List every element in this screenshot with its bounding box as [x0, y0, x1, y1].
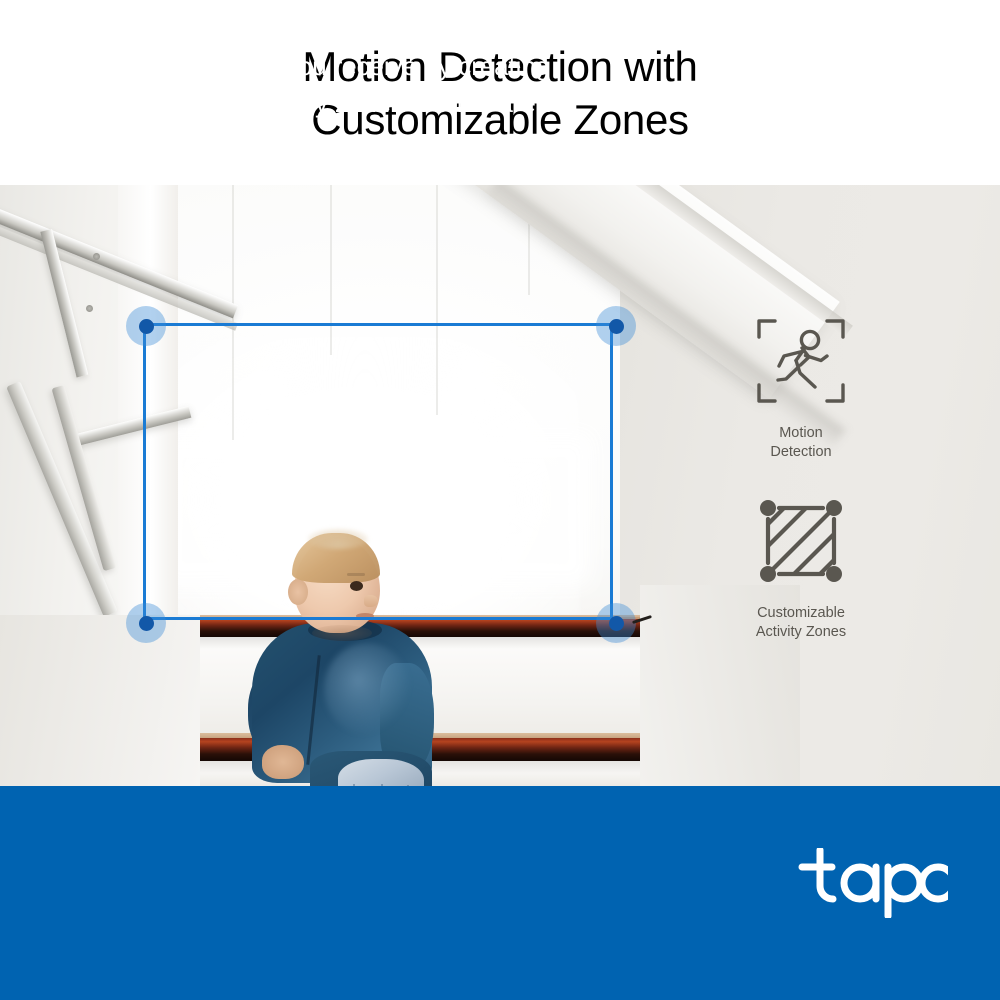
feature-motion-detection-label: Motion Detection — [770, 424, 831, 462]
baby-hand — [262, 745, 304, 779]
baby-chin-shadow — [312, 625, 372, 641]
frame-screw — [93, 253, 100, 260]
feature-activity-zones: Customizable Activity Zones — [706, 495, 896, 642]
feature-activity-zones-label: Customizable Activity Zones — [756, 604, 846, 642]
feature-label-line-1: Motion — [779, 425, 823, 441]
left-skirting — [0, 615, 200, 786]
hero-photo: Motion Detection — [0, 185, 1000, 786]
tapo-logo — [798, 848, 948, 918]
feature-label-line-2: Activity Zones — [756, 624, 846, 640]
baby-torso-highlight — [324, 643, 410, 735]
frame-screw — [86, 305, 93, 312]
footer-copy: Control what alerts you receive by creat… — [63, 48, 683, 159]
activity-zone-rectangle[interactable] — [143, 323, 613, 620]
footer-copy-line-3: that matter. — [63, 122, 683, 159]
walking-person-in-brackets-icon — [755, 315, 847, 412]
zone-handle-top-right[interactable] — [596, 306, 636, 346]
zone-handle-top-left[interactable] — [126, 306, 166, 346]
feature-label-line-2: Detection — [770, 444, 831, 460]
marketing-feature-card: Motion Detection with Customizable Zones — [0, 0, 1000, 1000]
feature-label-line-1: Customizable — [757, 605, 845, 621]
zone-handle-bottom-right[interactable] — [596, 603, 636, 643]
feature-motion-detection: Motion Detection — [706, 315, 896, 462]
footer-copy-line-1: Control what alerts you receive by creat… — [63, 48, 683, 85]
zone-handle-bottom-left[interactable] — [126, 603, 166, 643]
footer-copy-line-2: multiple custom activity zones around ar… — [63, 85, 683, 122]
hatched-square-with-corner-dots-icon — [755, 495, 847, 592]
